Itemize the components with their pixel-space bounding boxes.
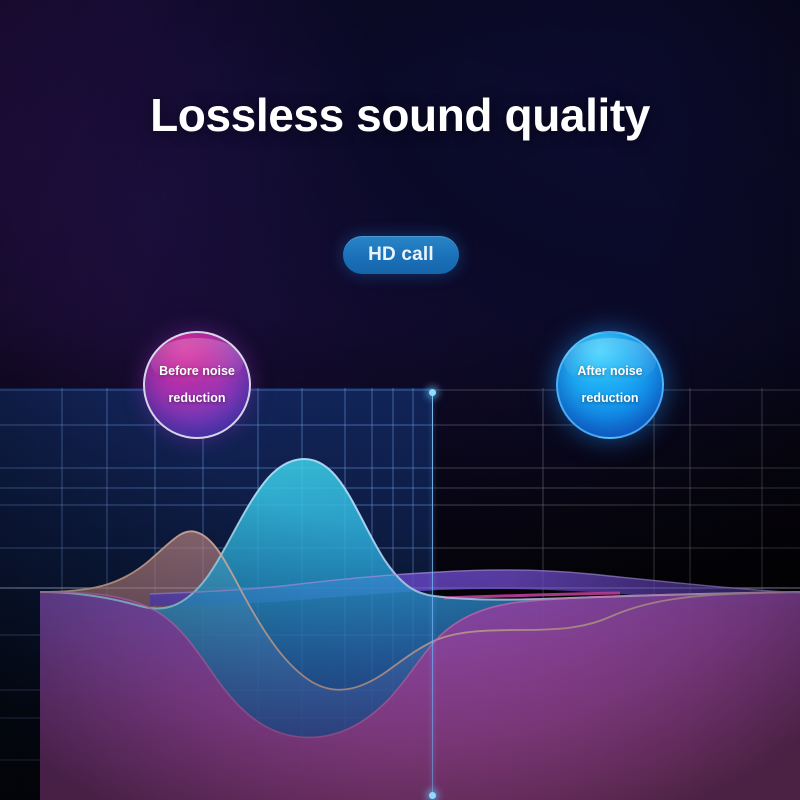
promo-banner: Lossless sound quality HD call Before no… (0, 0, 800, 800)
before-noise-reduction-circle[interactable]: Before noise reduction (143, 331, 251, 439)
before-circle-line-2: reduction (169, 392, 226, 405)
after-circle-line-1: After noise (577, 365, 642, 378)
page-title: Lossless sound quality (0, 88, 800, 142)
section-divider (432, 392, 433, 796)
before-circle-line-1: Before noise (159, 365, 235, 378)
after-circle-line-2: reduction (582, 392, 639, 405)
divider-bottom-dot (429, 792, 436, 799)
hd-call-badge[interactable]: HD call (343, 236, 459, 274)
hd-call-badge-label: HD call (368, 244, 434, 266)
divider-top-dot (429, 389, 436, 396)
after-noise-reduction-circle[interactable]: After noise reduction (556, 331, 664, 439)
